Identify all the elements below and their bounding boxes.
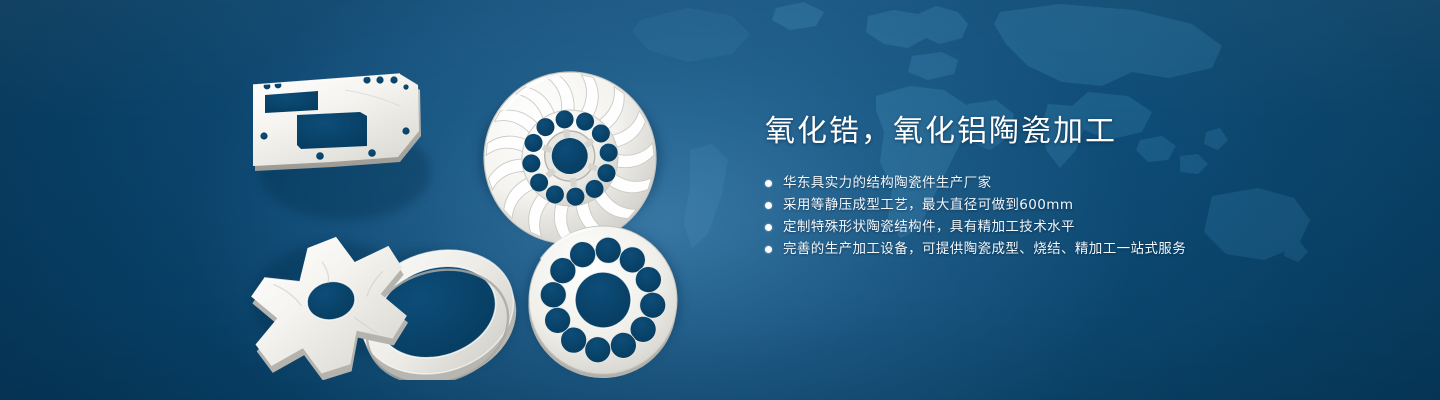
- hero-text-block: 氧化锆，氧化铝陶瓷加工 华东具实力的结构陶瓷件生产厂家 采用等静压成型工艺，最大…: [765, 110, 1385, 260]
- list-item: 完善的生产加工设备，可提供陶瓷成型、烧结、精加工一站式服务: [765, 238, 1385, 260]
- list-item: 定制特殊形状陶瓷结构件，具有精加工技术水平: [765, 216, 1385, 238]
- list-item: 华东具实力的结构陶瓷件生产厂家: [765, 172, 1385, 194]
- ceramic-perforated-disc: [521, 219, 684, 380]
- bullet-dot-icon: [765, 180, 772, 187]
- page-title: 氧化锆，氧化铝陶瓷加工: [765, 110, 1385, 154]
- hero-banner: 氧化锆，氧化铝陶瓷加工 华东具实力的结构陶瓷件生产厂家 采用等静压成型工艺，最大…: [0, 0, 1440, 400]
- feature-text: 完善的生产加工设备，可提供陶瓷成型、烧结、精加工一站式服务: [783, 238, 1186, 260]
- feature-text: 华东具实力的结构陶瓷件生产厂家: [783, 172, 992, 194]
- feature-text: 定制特殊形状陶瓷结构件，具有精加工技术水平: [783, 216, 1075, 238]
- list-item: 采用等静压成型工艺，最大直径可做到600mm: [765, 194, 1385, 216]
- ceramic-plate: [253, 74, 421, 171]
- product-photo-group: [225, 50, 705, 380]
- feature-text: 采用等静压成型工艺，最大直径可做到600mm: [783, 194, 1073, 216]
- bullet-dot-icon: [765, 246, 772, 253]
- feature-list: 华东具实力的结构陶瓷件生产厂家 采用等静压成型工艺，最大直径可做到600mm 定…: [765, 172, 1385, 260]
- bullet-dot-icon: [765, 202, 772, 209]
- ceramic-impeller: [473, 61, 667, 255]
- bullet-dot-icon: [765, 224, 772, 231]
